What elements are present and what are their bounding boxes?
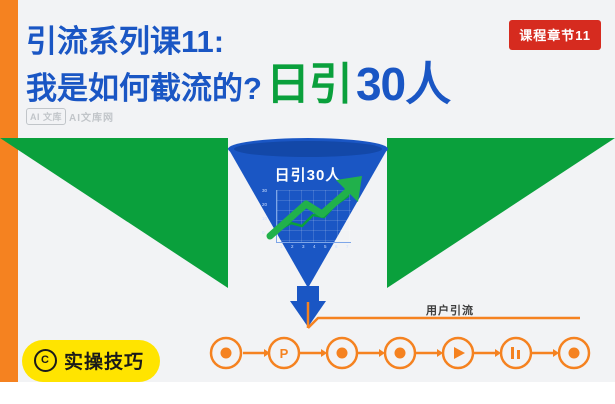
- funnel-wing-right: [387, 138, 615, 288]
- bottom-white-band: [0, 382, 615, 404]
- headline-line-2: 我是如何截流的? 日引 30人: [26, 63, 586, 106]
- headline: 引流系列课11: 我是如何截流的? 日引 30人: [26, 24, 586, 106]
- funnel-wing-left: [0, 138, 228, 288]
- watermark: AI 文库 AI文库网: [26, 108, 114, 125]
- svg-text:P: P: [280, 346, 289, 361]
- practice-tips-tag: C 实操技巧: [22, 340, 160, 382]
- headline-line-1: 引流系列课11:: [26, 24, 586, 61]
- practice-tips-label: 实操技巧: [64, 347, 144, 374]
- funnel-rim: [228, 138, 388, 160]
- funnel-rim-inner: [234, 141, 382, 157]
- poster-canvas: AI 文库 AI文库网 课程章节11 引流系列课11: 我是如何截流的? 日引 …: [0, 0, 615, 404]
- headline-question: 我是如何截流的?: [26, 72, 262, 106]
- copyright-icon: C: [34, 349, 57, 372]
- watermark-badge: AI 文库: [26, 108, 66, 125]
- growth-arrow-icon: [252, 174, 372, 250]
- watermark-label: AI文库网: [69, 109, 114, 124]
- headline-highlight-blue: 30人: [356, 63, 450, 106]
- headline-highlight-green: 日引: [266, 64, 352, 106]
- user-flow-diagram: 用户引流 P: [208, 298, 606, 376]
- funnel-graphic: 日引30人 30 20 10 0 1 2 3 4 5 6 7: [228, 138, 388, 288]
- flow-connectors: P: [208, 298, 606, 376]
